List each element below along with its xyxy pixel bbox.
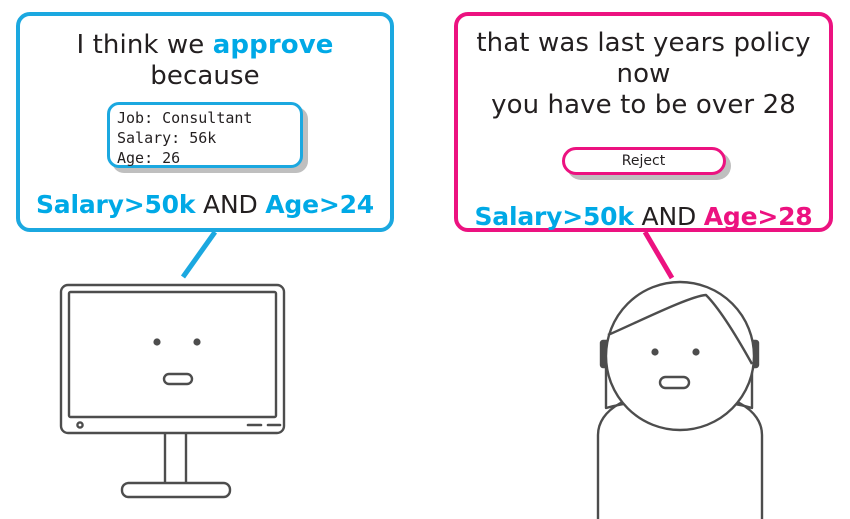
right-rule-condition-1: Salary>50k: [474, 202, 633, 231]
reject-button-wrapper: Reject: [562, 147, 726, 175]
monitor-eye-right-icon: [193, 338, 200, 345]
applicant-data-card-wrapper: Job: Consultant Salary: 56k Age: 26: [107, 102, 303, 168]
left-bubble-headline: I think we approve because: [20, 30, 390, 92]
right-rule-condition-2: Age>28: [704, 202, 813, 231]
right-headline-line-1: that was last years policy now: [468, 28, 819, 90]
monitor-stand-base: [122, 483, 230, 497]
right-bubble-tail: [645, 232, 672, 278]
right-rule-expression: Salary>50k AND Age>28: [458, 202, 829, 231]
computer-monitor: [61, 285, 284, 497]
monitor-screen: [69, 292, 276, 417]
right-headline-line-2: you have to be over 28: [468, 90, 819, 121]
left-rule-expression: Salary>50k AND Age>24: [20, 190, 390, 219]
left-rule-operator: AND: [195, 190, 265, 219]
left-headline-part1: I think we: [77, 30, 213, 60]
reject-button[interactable]: Reject: [562, 147, 726, 175]
person-avatar: [598, 282, 762, 519]
right-rule-operator: AND: [634, 202, 704, 231]
data-row-age: Age: 26: [117, 148, 300, 168]
data-row-job: Job: Consultant: [117, 108, 300, 128]
monitor-mouth-icon: [164, 374, 192, 384]
left-headline-part2: because: [150, 61, 259, 91]
data-row-salary: Salary: 56k: [117, 128, 300, 148]
illustration-scene: I think we approve because Job: Consulta…: [0, 0, 850, 519]
right-bubble-headline: that was last years policy now you have …: [458, 28, 829, 121]
monitor-eye-left-icon: [153, 338, 160, 345]
left-headline-approve: approve: [213, 30, 334, 60]
left-rule-condition-2: Age>24: [265, 190, 374, 219]
person-eye-left-icon: [651, 348, 658, 355]
left-speech-bubble: I think we approve because Job: Consulta…: [16, 12, 394, 232]
monitor-body: [61, 285, 284, 433]
applicant-data-card: Job: Consultant Salary: 56k Age: 26: [107, 102, 303, 168]
left-rule-condition-1: Salary>50k: [36, 190, 195, 219]
monitor-power-led-icon: [77, 422, 82, 427]
left-bubble-tail: [183, 232, 215, 277]
person-eye-right-icon: [692, 348, 699, 355]
right-speech-bubble: that was last years policy now you have …: [454, 12, 833, 232]
